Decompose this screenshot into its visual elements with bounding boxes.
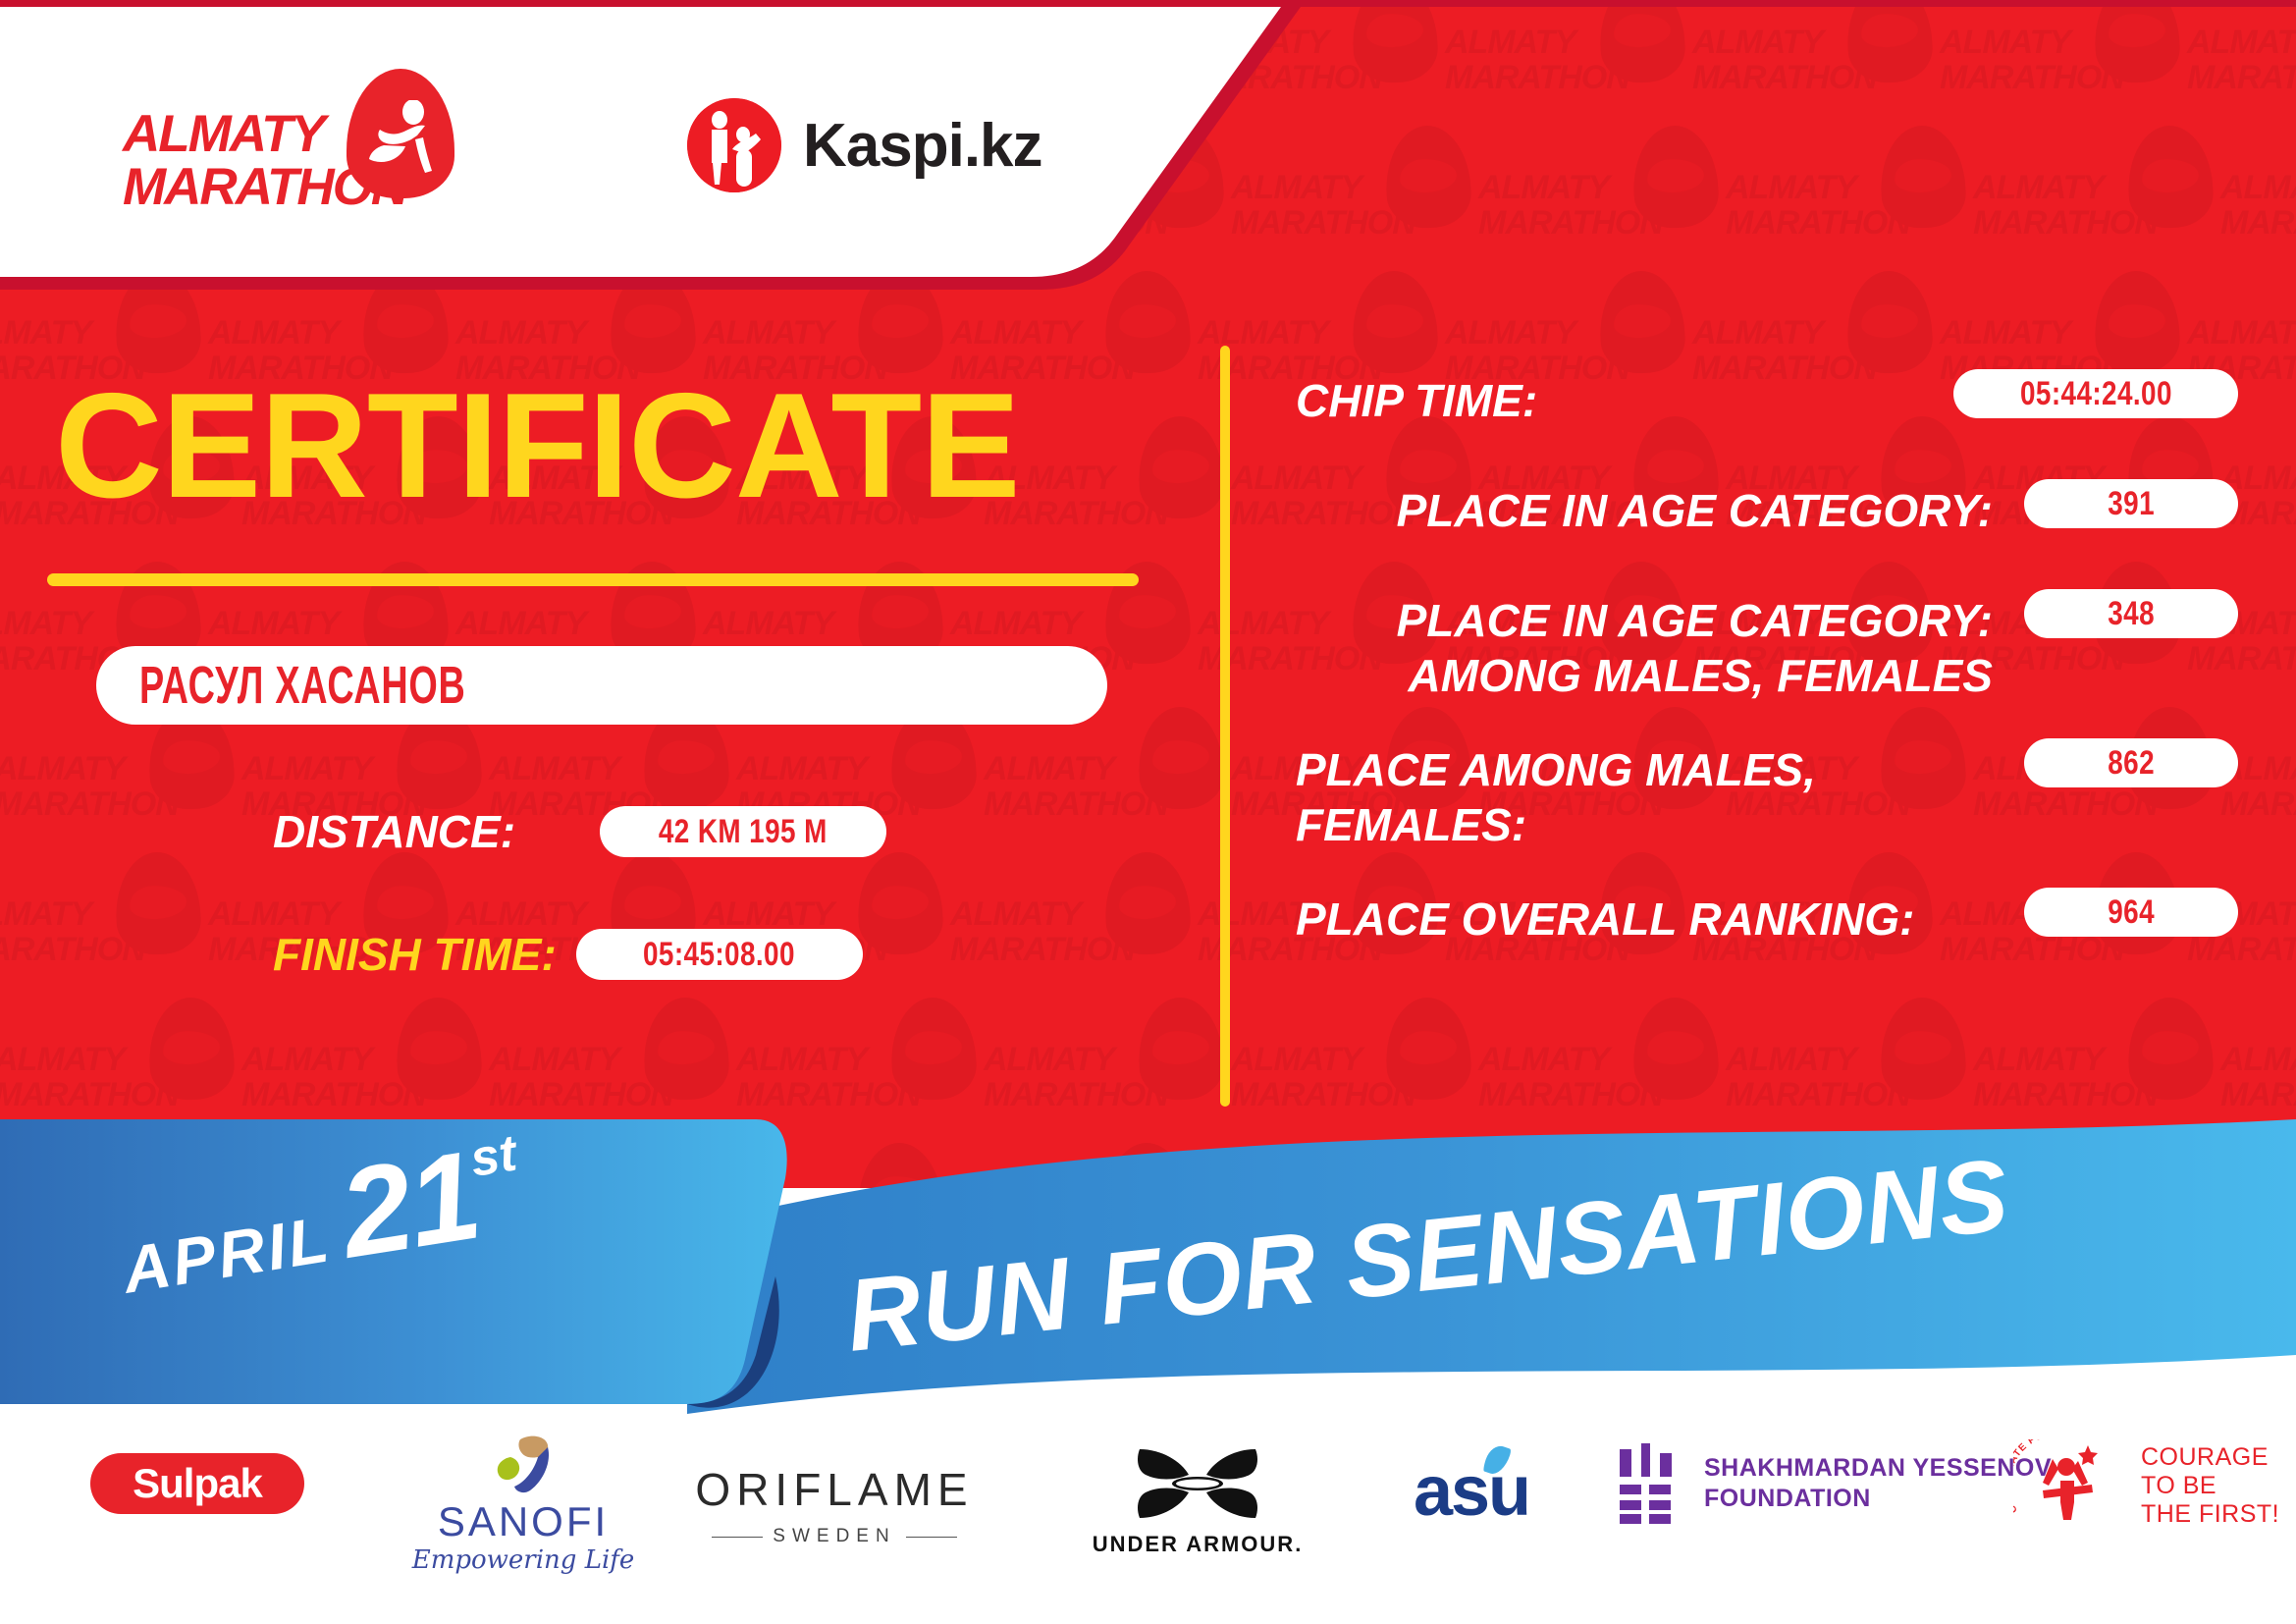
watermark-tile: ALMATYMARATHON (984, 416, 1229, 573)
title-underline (47, 573, 1139, 586)
stat-value-place-among-gender: 862 (2108, 744, 2155, 783)
watermark-line-1: ALMATY (241, 1041, 372, 1079)
watermark-tile: ALMATYMARATHON (1726, 126, 1971, 283)
watermark-line-1: ALMATY (1445, 24, 1575, 62)
stat-row-chip-time: CHIP TIME: 05:44:24.00 (1296, 373, 2238, 428)
watermark-line-1: ALMATY (984, 1041, 1114, 1079)
watermark-line-1: ALMATY (703, 605, 833, 643)
stat-pill-place-age-category-gender: 348 (2024, 589, 2238, 638)
watermark-tile: ALMATYMARATHON (984, 707, 1229, 864)
stat-pill-distance: 42 KM 195 M (600, 806, 886, 857)
watermark-line-2: MARATHON (1445, 59, 1629, 97)
watermark-line-2: MARATHON (2220, 204, 2296, 243)
stat-value-place-age-category-gender: 348 (2108, 595, 2155, 633)
watermark-line-2: MARATHON (950, 931, 1135, 969)
almaty-marathon-logo: ALMATY MARATHON (123, 69, 476, 216)
stat-label-line-1: PLACE AMONG MALES, (1296, 742, 1993, 797)
watermark-line-1: ALMATY (0, 314, 91, 352)
watermark-line-2: MARATHON (1940, 59, 2124, 97)
kaspi-people-icon (687, 98, 781, 192)
watermark-line-1: ALMATY (2220, 1041, 2296, 1079)
stat-label-distance: DISTANCE: (273, 805, 515, 858)
watermark-tile: ALMATYMARATHON (0, 707, 240, 864)
watermark-line-1: ALMATY (1726, 1041, 1856, 1079)
watermark-line-1: ALMATY (2220, 169, 2296, 207)
runner-glyph-icon (360, 100, 441, 177)
stat-value-place-overall: 964 (2108, 893, 2155, 932)
watermark-line-1: ALMATY (703, 314, 833, 352)
athlete-name-value: РАСУЛ ХАСАНОВ (139, 655, 465, 716)
watermark-line-1: ALMATY (1478, 169, 1609, 207)
watermark-line-1: ALMATY (455, 314, 586, 352)
watermark-tile: ALMATYMARATHON (1940, 0, 2185, 137)
watermark-line-1: ALMATY (1445, 314, 1575, 352)
watermark-tile: ALMATYMARATHON (1445, 0, 1690, 137)
watermark-line-2: MARATHON (0, 785, 179, 824)
kaspi-wordmark: Kaspi.kz (803, 111, 1042, 181)
watermark-line-1: ALMATY (1940, 24, 2070, 62)
watermark-line-1: ALMATY (241, 750, 372, 788)
watermark-line-1: ALMATY (1198, 314, 1328, 352)
watermark-line-1: ALMATY (489, 1041, 619, 1079)
stat-row-finish-time: FINISH TIME: 05:45:08.00 (273, 928, 863, 981)
sponsor-strip (0, 1426, 2296, 1624)
stat-row-place-age-category: PLACE IN AGE CATEGORY: 391 (1296, 483, 2238, 538)
athlete-name-field: РАСУЛ ХАСАНОВ (96, 646, 1107, 725)
event-day-ordinal: st (466, 1123, 520, 1188)
stat-pill-place-among-gender: 862 (2024, 738, 2238, 787)
watermark-line-1: ALMATY (2187, 314, 2296, 352)
stat-row-place-among-gender: PLACE AMONG MALES, FEMALES: 862 (1296, 742, 2238, 852)
watermark-line-1: ALMATY (208, 605, 339, 643)
watermark-line-1: ALMATY (950, 314, 1081, 352)
watermark-line-2: MARATHON (1973, 204, 2158, 243)
results-list: CHIP TIME: 05:44:24.00 PLACE IN AGE CATE… (1296, 373, 2238, 990)
stat-label-line-2: FEMALES: (1296, 797, 1993, 852)
watermark-line-1: ALMATY (1940, 314, 2070, 352)
stat-pill-place-overall: 964 (2024, 888, 2238, 937)
watermark-line-2: MARATHON (984, 785, 1168, 824)
event-day: 21 (331, 1123, 488, 1287)
certificate-page: ALMATYMARATHONALMATYMARATHONALMATYMARATH… (0, 0, 2296, 1624)
stat-pill-place-age-category: 391 (2024, 479, 2238, 528)
watermark-line-2: MARATHON (0, 931, 145, 969)
watermark-tile: ALMATYMARATHON (950, 852, 1196, 1009)
watermark-tile: ALMATYMARATHON (1973, 126, 2218, 283)
watermark-tile: ALMATYMARATHON (1478, 126, 1724, 283)
watermark-line-1: ALMATY (736, 1041, 867, 1079)
watermark-line-1: ALMATY (736, 750, 867, 788)
stat-row-place-overall: PLACE OVERALL RANKING: 964 (1296, 892, 2238, 947)
stat-value-finish-time: 05:45:08.00 (643, 936, 795, 974)
watermark-line-1: ALMATY (1973, 169, 2104, 207)
watermark-line-1: ALMATY (2187, 24, 2296, 62)
watermark-line-2: MARATHON (1726, 204, 1910, 243)
stat-value-distance: 42 KM 195 M (659, 813, 828, 851)
watermark-line-1: ALMATY (489, 750, 619, 788)
watermark-line-1: ALMATY (1692, 314, 1823, 352)
stat-row-place-age-category-gender: PLACE IN AGE CATEGORY: AMONG MALES, FEMA… (1296, 593, 2238, 703)
stat-value-chip-time: 05:44:24.00 (2020, 375, 2172, 413)
watermark-line-2: MARATHON (1478, 204, 1663, 243)
watermark-line-2: MARATHON (2187, 59, 2296, 97)
watermark-tile: ALMATYMARATHON (1692, 0, 1938, 137)
watermark-tile: ALMATYMARATHON (2220, 126, 2296, 283)
kaspi-people-glyph-icon (687, 98, 781, 192)
top-accent-rule (0, 0, 2296, 7)
watermark-line-1: ALMATY (1231, 1041, 1362, 1079)
watermark-line-1: ALMATY (0, 605, 91, 643)
event-month: APRIL (118, 1201, 336, 1307)
watermark-line-1: ALMATY (0, 895, 91, 934)
runner-drop-icon (347, 69, 454, 198)
stat-label-line-2: AMONG MALES, FEMALES (1296, 648, 1993, 703)
stat-value-place-age-category: 391 (2108, 485, 2155, 523)
watermark-tile: ALMATYMARATHON (2187, 0, 2296, 137)
watermark-line-1: ALMATY (208, 314, 339, 352)
watermark-tile: ALMATYMARATHON (0, 852, 206, 1009)
watermark-line-1: ALMATY (0, 750, 125, 788)
watermark-line-1: ALMATY (950, 895, 1081, 934)
stat-pill-chip-time: 05:44:24.00 (1953, 369, 2238, 418)
watermark-line-1: ALMATY (1692, 24, 1823, 62)
watermark-line-1: ALMATY (0, 1041, 125, 1079)
watermark-line-1: ALMATY (1726, 169, 1856, 207)
column-divider (1220, 346, 1230, 1107)
stat-row-distance: DISTANCE: 42 KM 195 M (273, 805, 886, 858)
stat-label-line-1: PLACE IN AGE CATEGORY: (1296, 593, 1993, 648)
watermark-line-1: ALMATY (950, 605, 1081, 643)
watermark-line-1: ALMATY (455, 605, 586, 643)
watermark-line-2: MARATHON (1692, 59, 1877, 97)
watermark-line-1: ALMATY (1478, 1041, 1609, 1079)
watermark-line-1: ALMATY (1973, 1041, 2104, 1079)
kaspi-logo: Kaspi.kz (687, 98, 1042, 192)
watermark-line-1: ALMATY (984, 750, 1114, 788)
page-title: CERTIFICATE (55, 371, 1020, 520)
stat-pill-finish-time: 05:45:08.00 (576, 929, 863, 980)
stat-label-finish-time: FINISH TIME: (273, 928, 557, 981)
